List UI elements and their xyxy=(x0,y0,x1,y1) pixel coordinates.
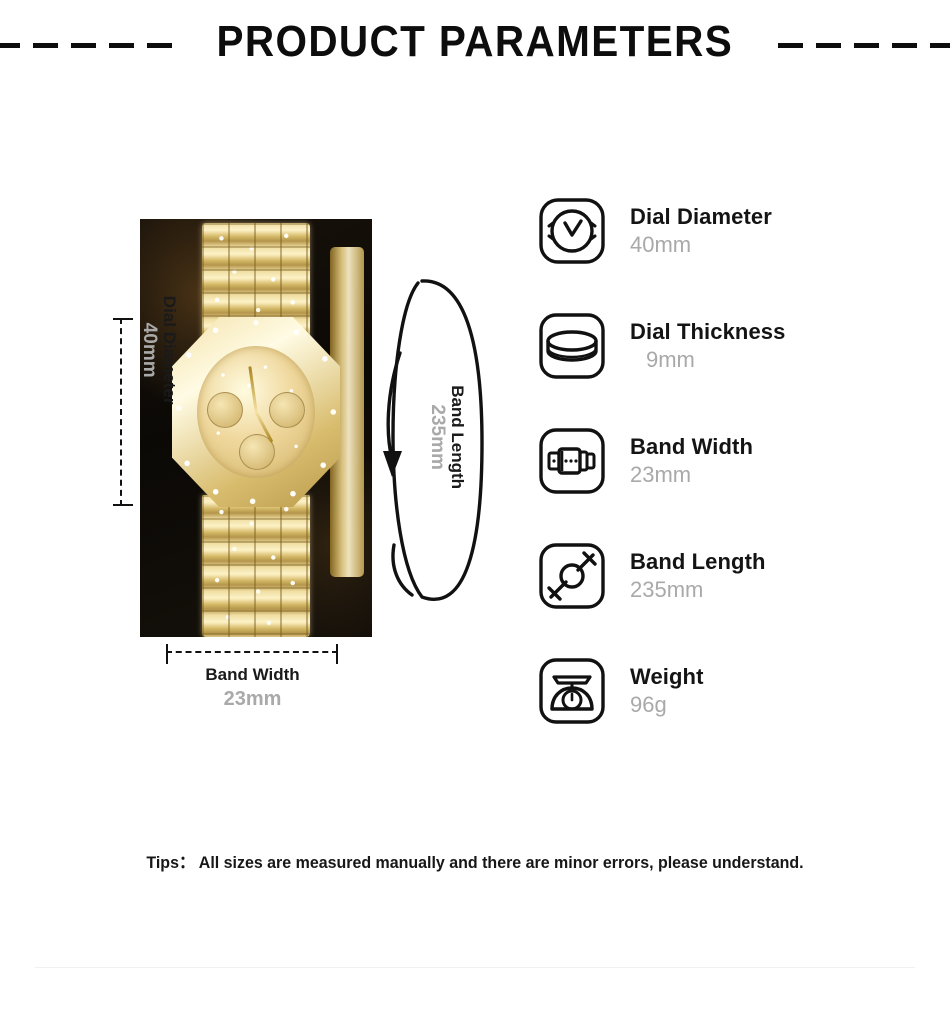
dash-icon xyxy=(930,43,950,48)
dash-icon xyxy=(109,43,134,48)
minute-hand xyxy=(248,366,257,412)
bottom-divider xyxy=(35,967,915,968)
spec-text: Dial Thickness 9mm xyxy=(630,318,785,375)
page-title: PRODUCT PARAMETERS xyxy=(217,20,734,64)
measurement-diagram: Dial Diameter 40mm Band Width 23mm Band … xyxy=(0,180,510,740)
spec-item-weight: Weight 96g xyxy=(536,642,936,740)
spec-list: Dial Diameter 40mm Dial Thickness 9mm xyxy=(536,182,936,757)
dash-icon xyxy=(33,43,58,48)
kitchen-scale-icon xyxy=(536,655,608,727)
dimension-cap-icon xyxy=(113,504,133,506)
spec-label: Dial Thickness xyxy=(630,318,785,346)
title-dashes-right xyxy=(778,43,950,48)
watch-strap-icon xyxy=(536,540,608,612)
band-length-value: 235mm xyxy=(427,342,448,532)
band-width-annotation: Band Width 23mm xyxy=(150,664,355,712)
spec-item-band-width: Band Width 23mm xyxy=(536,412,936,510)
band-width-dimension-line xyxy=(166,651,338,655)
subdial-left xyxy=(207,392,243,428)
dash-icon xyxy=(892,43,917,48)
spec-value: 23mm xyxy=(630,461,753,490)
band-length-label: Band Length xyxy=(448,342,467,532)
dial-diameter-value: 40mm xyxy=(139,265,160,435)
band-width-label: Band Width xyxy=(150,664,355,686)
spec-label: Band Width xyxy=(630,433,753,461)
dimension-cap-icon xyxy=(113,318,133,320)
bracelet-lower xyxy=(202,495,310,637)
spec-text: Weight 96g xyxy=(630,663,704,720)
spec-text: Band Width 23mm xyxy=(630,433,753,490)
dash-icon xyxy=(778,43,803,48)
dial-diameter-label: Dial Diameter xyxy=(160,265,179,435)
dial-diameter-dimension-line xyxy=(120,318,124,506)
dash-icon xyxy=(71,43,96,48)
spec-value: 96g xyxy=(630,691,704,720)
disc-thickness-icon xyxy=(536,310,608,382)
spec-label: Weight xyxy=(630,663,704,691)
watch-case xyxy=(172,317,340,507)
watch-dial xyxy=(197,346,315,478)
band-length-loop: Band Length 235mm xyxy=(378,245,490,615)
spec-item-band-length: Band Length 235mm xyxy=(536,527,936,625)
bracelet-clasp-icon xyxy=(536,425,608,497)
spec-value: 40mm xyxy=(630,231,772,260)
title-dashes-left xyxy=(0,43,172,48)
spec-value: 9mm xyxy=(630,346,785,375)
page-title-row: PRODUCT PARAMETERS xyxy=(0,14,950,70)
dash-icon xyxy=(0,43,20,48)
dimension-cap-icon xyxy=(336,644,338,664)
tips-text: Tips： All sizes are measured manually an… xyxy=(29,848,922,873)
subdial-right xyxy=(269,392,305,428)
dimension-cap-icon xyxy=(166,644,168,664)
band-width-value: 23mm xyxy=(150,686,355,712)
spec-label: Band Length xyxy=(630,548,766,576)
spec-value: 235mm xyxy=(630,576,766,605)
spec-text: Dial Diameter 40mm xyxy=(630,203,772,260)
dial-diameter-annotation: Dial Diameter 40mm xyxy=(139,265,179,435)
dash-icon xyxy=(816,43,841,48)
spec-item-dial-diameter: Dial Diameter 40mm xyxy=(536,182,936,280)
dash-icon xyxy=(147,43,172,48)
dash-icon xyxy=(854,43,879,48)
spec-text: Band Length 235mm xyxy=(630,548,766,605)
watch-dial-icon xyxy=(536,195,608,267)
spec-item-dial-thickness: Dial Thickness 9mm xyxy=(536,297,936,395)
band-length-annotation: Band Length 235mm xyxy=(427,342,467,532)
spec-label: Dial Diameter xyxy=(630,203,772,231)
